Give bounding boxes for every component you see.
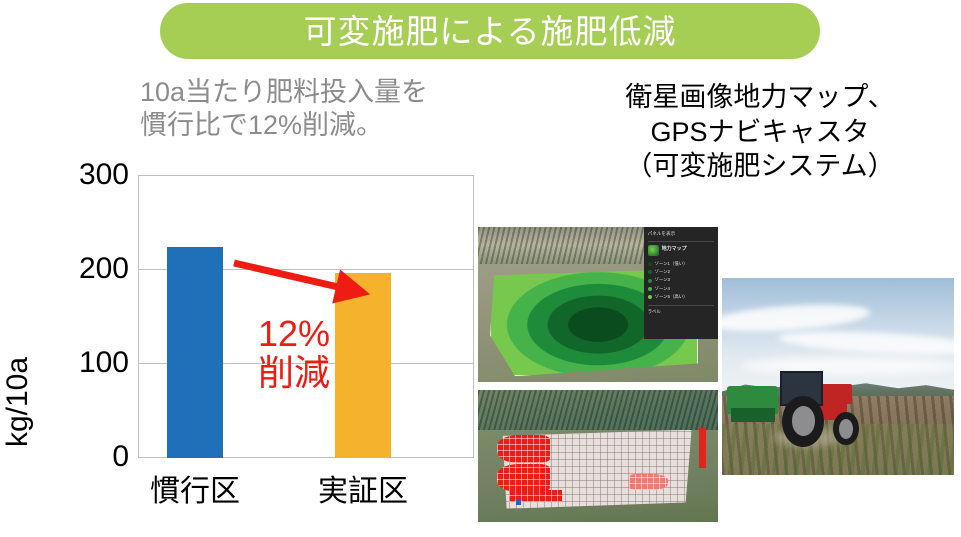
- title-banner: 可変施肥による施肥低減: [160, 3, 820, 59]
- subtitle-block: 10a当たり肥料投入量を 慣行比で12%削減。: [140, 76, 470, 142]
- legend-zone-4-label: ゾーン4: [655, 285, 670, 293]
- vra-map-high-rate-zone: [497, 464, 550, 492]
- legend-zone-2: ゾーン2: [648, 268, 714, 276]
- bar-conventional[interactable]: [167, 247, 223, 458]
- layer-thumbnail-icon: [648, 245, 659, 256]
- satellite-soil-fertility-map[interactable]: パネルを表示 地力マップ ゾーン1（低い） ゾーン2 ゾーン3 ゾーン4: [478, 227, 718, 382]
- fertilizer-spreader-body: [731, 408, 775, 422]
- legend-zone-1-label: ゾーン1（低い）: [655, 260, 688, 268]
- legend-panel-header: パネルを表示: [648, 230, 714, 242]
- chart-plot-area: 300 200 100 0 慣行区 実証区 12%: [138, 175, 474, 458]
- vra-map-high-rate-zone: [497, 435, 550, 463]
- variable-rate-application-map[interactable]: [478, 390, 718, 522]
- soil-map-legend-panel[interactable]: パネルを表示 地力マップ ゾーン1（低い） ゾーン2 ゾーン3 ゾーン4: [644, 227, 718, 339]
- legend-zone-2-label: ゾーン2: [655, 268, 670, 276]
- right-caption-line-2: GPSナビキャスタ: [565, 115, 955, 150]
- right-caption-block: 衛星画像地力マップ、 GPSナビキャスタ （可変施肥システム）: [565, 80, 955, 184]
- zone-swatch-icon: [648, 279, 652, 283]
- legend-zone-3: ゾーン3: [648, 276, 714, 284]
- x-tick-conventional: 慣行区: [125, 466, 265, 510]
- page-title: 可変施肥による施肥低減: [303, 15, 676, 48]
- photo-cloud: [741, 357, 954, 375]
- legend-layer-title: 地力マップ: [662, 245, 687, 255]
- tractor-front-hub: [839, 419, 853, 439]
- right-caption-line-3: （可変施肥システム）: [565, 149, 955, 184]
- zone-swatch-icon: [648, 295, 652, 299]
- y-tick-200: 200: [79, 254, 129, 284]
- fertilizer-bar-chart: kg/10a 300 200 100 0 慣行区 実証区: [0, 155, 480, 515]
- legend-zone-5: ゾーン5（高い）: [648, 293, 714, 301]
- zone-swatch-icon: [648, 262, 652, 266]
- legend-zone-1: ゾーン1（低い）: [648, 260, 714, 268]
- vra-map-position-marker: [516, 500, 521, 505]
- legend-zone-4: ゾーン4: [648, 285, 714, 293]
- subtitle-line-2: 慣行比で12%削減。: [140, 109, 470, 142]
- reduction-callout-percent: 12%: [249, 315, 339, 354]
- right-caption-line-1: 衛星画像地力マップ、: [565, 80, 955, 115]
- y-axis-title: kg/10a: [1, 342, 35, 462]
- vra-map-texture: [478, 390, 718, 435]
- zone-swatch-icon: [648, 287, 652, 291]
- legend-zone-5-label: ゾーン5（高い）: [655, 293, 688, 301]
- slide-canvas: 可変施肥による施肥低減 10a当たり肥料投入量を 慣行比で12%削減。 衛星画像…: [0, 0, 961, 537]
- tractor-rear-hub: [792, 406, 815, 436]
- x-tick-demonstration: 実証区: [293, 466, 433, 510]
- legend-layer-row[interactable]: 地力マップ: [648, 245, 714, 256]
- y-tick-100: 100: [79, 348, 129, 378]
- vra-map-high-rate-zone: [629, 474, 667, 490]
- vra-map-edge-strip: [699, 428, 706, 468]
- legend-zone-3-label: ゾーン3: [655, 276, 670, 284]
- zone-swatch-icon: [648, 270, 652, 274]
- reduction-callout: 12% 削減: [249, 315, 339, 393]
- tractor-with-fertilizer-spreader-photo[interactable]: [722, 278, 954, 475]
- bar-demonstration[interactable]: [335, 273, 391, 458]
- legend-panel-footer[interactable]: ラベル: [648, 305, 714, 316]
- subtitle-line-1: 10a当たり肥料投入量を: [140, 76, 470, 109]
- y-tick-300: 300: [79, 160, 129, 190]
- reduction-callout-word: 削減: [249, 354, 339, 393]
- gridline-300: [139, 175, 473, 176]
